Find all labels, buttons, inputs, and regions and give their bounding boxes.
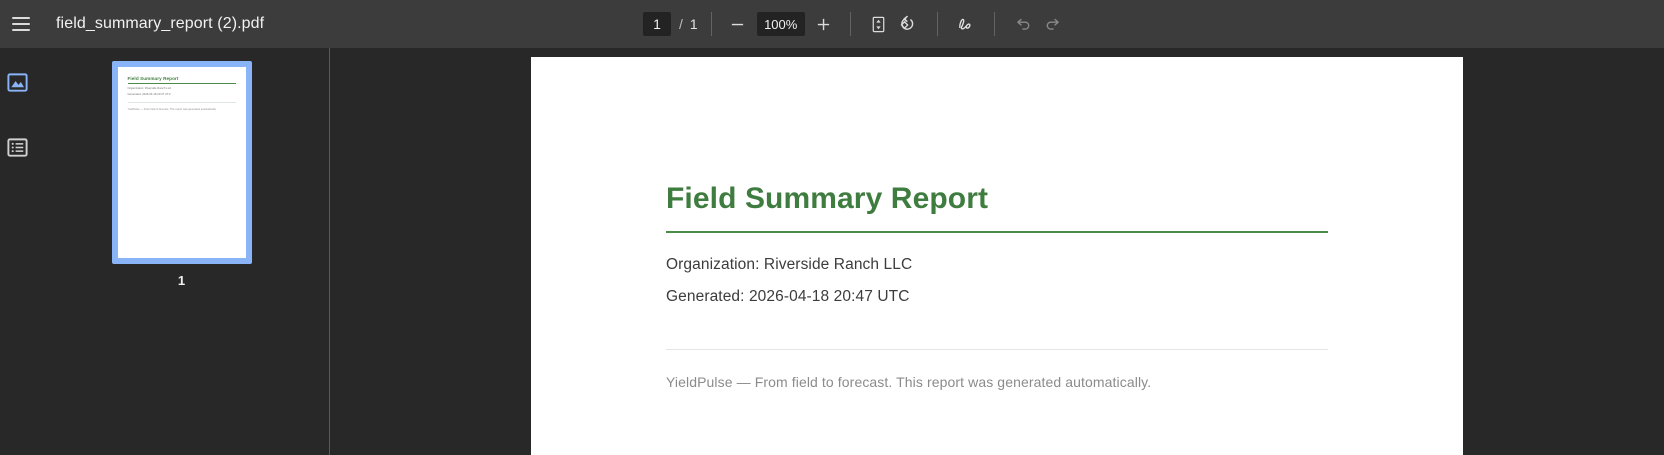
thumbnail-heading-rule xyxy=(128,83,236,84)
document-title: field_summary_report (2).pdf xyxy=(56,15,264,33)
outline-toggle-button[interactable] xyxy=(5,135,29,159)
toolbar-left-group: field_summary_report (2).pdf xyxy=(0,0,264,48)
toolbar-divider xyxy=(711,12,712,36)
page-separator: / xyxy=(679,16,683,32)
report-heading: Field Summary Report xyxy=(666,182,1328,215)
top-toolbar: field_summary_report (2).pdf / 1 100% xyxy=(0,0,1664,48)
side-rail xyxy=(0,48,34,455)
undo-button[interactable] xyxy=(1008,9,1038,39)
toolbar-center-group: / 1 100% xyxy=(643,0,1068,48)
rotate-counterclockwise-icon xyxy=(898,14,919,35)
viewer-body: Field Summary Report Organization: River… xyxy=(0,48,1664,455)
pdf-page-content: Field Summary Report Organization: River… xyxy=(666,57,1328,390)
page-navigation: / 1 xyxy=(643,12,698,36)
organization-line: Organization: Riverside Ranch LLC xyxy=(666,256,1328,274)
hamburger-menu-icon[interactable] xyxy=(5,8,37,40)
ink-signature-icon xyxy=(955,14,976,35)
thumbnail-footer: YieldPulse — From field to forecast. Thi… xyxy=(128,108,236,111)
zoom-out-button[interactable] xyxy=(725,11,751,37)
zoom-in-button[interactable] xyxy=(811,11,837,37)
thumbnail-page-label: 1 xyxy=(178,273,185,288)
thumbnail-generated: Generated: 2026-04-18 20:47 UTC xyxy=(128,93,236,96)
pdf-viewer-app: field_summary_report (2).pdf / 1 100% xyxy=(0,0,1664,455)
heading-rule xyxy=(666,231,1328,233)
thumbnail-heading: Field Summary Report xyxy=(128,76,236,81)
undo-icon xyxy=(1013,14,1033,34)
redo-button[interactable] xyxy=(1038,9,1068,39)
toolbar-divider xyxy=(850,12,851,36)
thumbnail-pane: Field Summary Report Organization: River… xyxy=(34,48,330,455)
document-outline-icon xyxy=(6,136,29,159)
thumbnails-icon xyxy=(6,71,29,94)
thumbnail-divider xyxy=(128,102,236,103)
hamburger-bar xyxy=(12,23,30,25)
plus-icon xyxy=(816,17,831,32)
page-viewer[interactable]: Field Summary Report Organization: River… xyxy=(330,48,1664,455)
page-number-input[interactable] xyxy=(643,12,671,36)
pdf-page: Field Summary Report Organization: River… xyxy=(531,57,1463,455)
thumbnail-organization: Organization: Riverside Ranch LLC xyxy=(128,87,236,90)
thumbnail-content: Field Summary Report Organization: River… xyxy=(118,67,246,111)
hamburger-bar xyxy=(12,29,30,31)
toolbar-divider xyxy=(937,12,938,36)
thumbnails-toggle-button[interactable] xyxy=(5,70,29,94)
page-total-count: 1 xyxy=(690,16,698,32)
content-divider xyxy=(666,349,1328,350)
fit-page-button[interactable] xyxy=(864,9,894,39)
rotate-button[interactable] xyxy=(894,9,924,39)
hamburger-bar xyxy=(12,17,30,19)
generated-line: Generated: 2026-04-18 20:47 UTC xyxy=(666,288,1328,306)
zoom-level-value[interactable]: 100% xyxy=(757,12,805,36)
zoom-controls: 100% xyxy=(725,11,837,37)
thumbnail-page-preview: Field Summary Report Organization: River… xyxy=(118,67,246,258)
page-thumbnail-1[interactable]: Field Summary Report Organization: River… xyxy=(112,61,252,264)
ink-signature-button[interactable] xyxy=(951,9,981,39)
toolbar-divider xyxy=(994,12,995,36)
minus-icon xyxy=(730,17,745,32)
fit-page-icon xyxy=(869,15,888,34)
report-footer: YieldPulse — From field to forecast. Thi… xyxy=(666,374,1328,390)
redo-icon xyxy=(1043,14,1063,34)
